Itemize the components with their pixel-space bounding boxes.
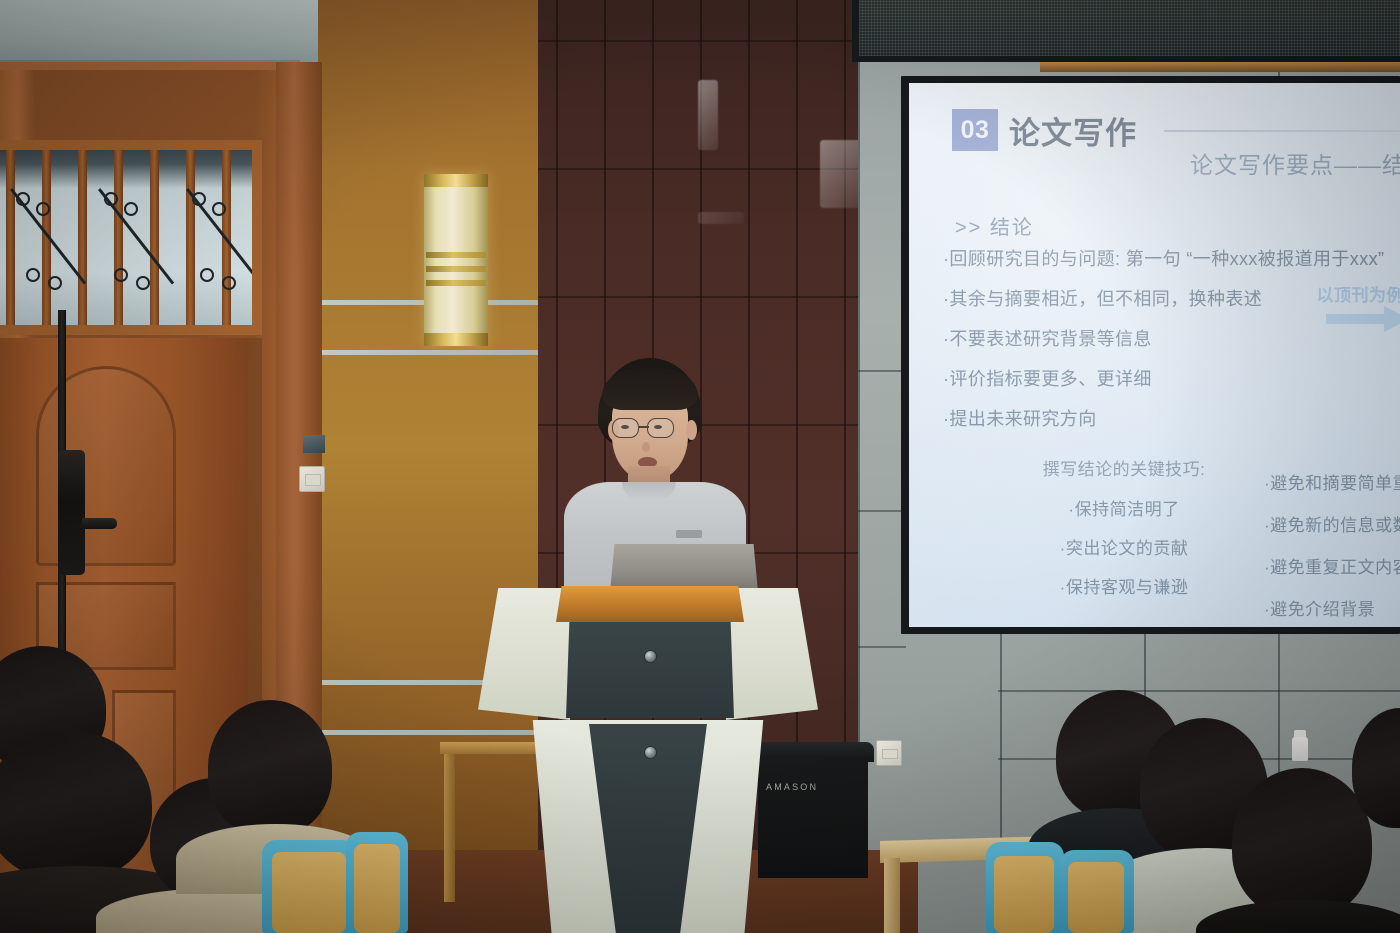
slide-bullet-list: ·回顾研究目的与问题: 第一句 “一种xxx被报道用于xxx” ·其余与摘要相近…: [943, 245, 1373, 445]
slide-avoid-item: ·避免介绍背景: [1264, 595, 1400, 620]
slide-avoid-item: ·避免和摘要简单重复: [1264, 469, 1400, 494]
slide-heading-rule: [1164, 130, 1400, 132]
slide-tips-header: 撰写结论的关键技巧:: [1009, 455, 1239, 480]
podium-button[interactable]: [644, 650, 657, 663]
led-display-panel: [852, 0, 1400, 62]
door-handle[interactable]: [82, 518, 117, 529]
tape-mark: [698, 80, 718, 150]
chair-seat[interactable]: [354, 844, 400, 933]
presenter-fringe: [602, 368, 698, 410]
slide-avoid-item: ·避免重复正文内容: [1264, 553, 1400, 578]
wall-socket[interactable]: [876, 740, 902, 766]
glasses-icon: [612, 418, 639, 438]
slide-tip-item: ·突出论文的贡献: [1009, 534, 1239, 559]
wall-trim-line: [318, 350, 538, 355]
slide-accent-note: 以顶刊为例: [1317, 281, 1400, 306]
chair-seat[interactable]: [272, 852, 346, 933]
sweatshirt-logo: [676, 530, 702, 538]
light-switch[interactable]: [299, 466, 325, 492]
tape-mark: [698, 212, 744, 224]
slide-subtitle: 论文写作要点——结: [1190, 146, 1400, 180]
slide-bullet: ·评价指标要更多、更详细: [943, 365, 1373, 391]
lecture-hall-photo: 03 论文写作 论文写作要点——结 >> 结论 ·回顾研究目的与问题: 第一句 …: [0, 0, 1400, 933]
laptop: [610, 544, 758, 592]
audience-head: [0, 730, 152, 880]
podium-button[interactable]: [644, 746, 657, 759]
wall-sconce: [424, 174, 488, 346]
transom-window: [0, 140, 262, 335]
slide-tip-item: ·保持简洁明了: [1009, 495, 1239, 520]
chair-seat[interactable]: [994, 856, 1054, 933]
screen-valance: [1040, 62, 1400, 72]
glasses-icon: [647, 418, 674, 438]
door-arch-panel: [36, 366, 176, 566]
slide-heading: 论文写作: [1009, 108, 1137, 153]
projection-screen-frame: 03 论文写作 论文写作要点——结 >> 结论 ·回顾研究目的与问题: 第一句 …: [901, 76, 1400, 634]
slide-bullet: ·不要表述研究背景等信息: [943, 325, 1373, 351]
wall-sensor-panel: [303, 435, 325, 453]
audience-head: [1232, 768, 1372, 918]
audience-head: [208, 700, 332, 836]
podium-front-panel: [566, 622, 734, 718]
podium: [478, 586, 818, 933]
slide-avoid-column: ·避免和摘要简单重复 ·避免新的信息或数据 ·避免重复正文内容 ·避免介绍背景: [1264, 469, 1400, 627]
slide-section-badge: 03: [952, 109, 998, 151]
projection-screen: 03 论文写作 论文写作要点——结 >> 结论 ·回顾研究目的与问题: 第一句 …: [909, 83, 1400, 627]
slide-bullet: ·其余与摘要相近，但不相同，换种表述: [943, 285, 1373, 311]
slide-section-marker: >> 结论: [955, 211, 1034, 240]
presenter-nose: [642, 442, 650, 452]
tape-mark: [820, 140, 862, 208]
slide-bullet: ·回顾研究目的与问题: 第一句 “一种xxx被报道用于xxx”: [943, 245, 1373, 271]
smart-lock-icon[interactable]: [58, 450, 85, 575]
water-bottle: [1292, 737, 1308, 761]
right-arrow-icon: [1326, 305, 1400, 333]
slide-tips-column: 撰写结论的关键技巧: ·保持简洁明了 ·突出论文的贡献 ·保持客观与谦逊: [1009, 455, 1239, 612]
podium-wood-top: [556, 586, 744, 622]
slide-bullet: ·提出未来研究方向: [943, 405, 1373, 431]
chair-seat[interactable]: [1068, 862, 1124, 933]
slide-avoid-item: ·避免新的信息或数据: [1264, 511, 1400, 536]
slide-tip-item: ·保持客观与谦逊: [1009, 573, 1239, 598]
